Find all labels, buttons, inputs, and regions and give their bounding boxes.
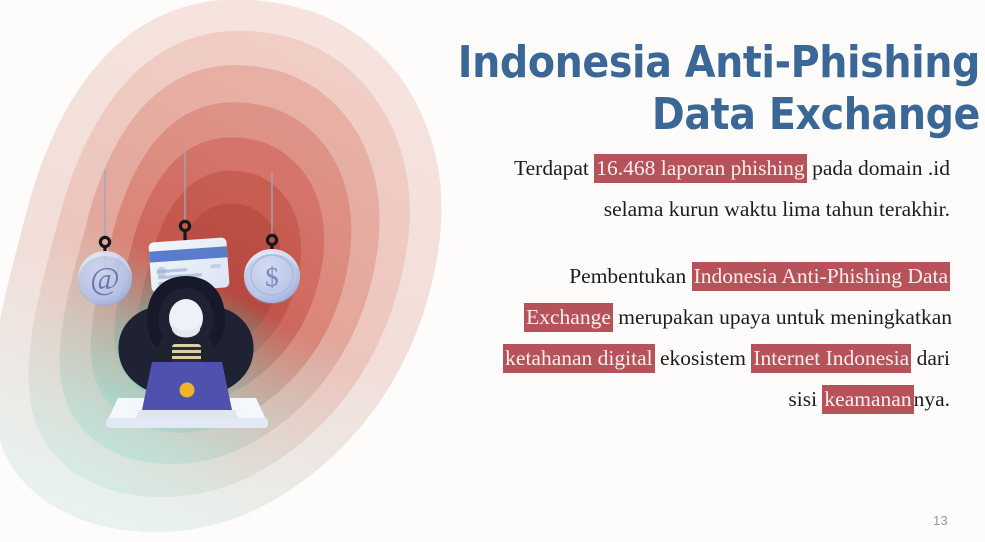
p1-highlight-report-count: 16.468 laporan phishing	[594, 154, 806, 183]
content-column: Indonesia Anti-Phishing Data Exchange Te…	[470, 0, 985, 542]
title-line-2: Data Exchange	[400, 89, 980, 140]
body-text: Terdapat 16.468 laporan phishing pada do…	[484, 148, 950, 420]
at-sign-coin-bait: @	[78, 251, 132, 306]
p2-seg5: ekosistem	[655, 346, 752, 370]
p2-seg3: merupakan upaya untuk meningkatkan	[613, 305, 952, 329]
p2-highlight-internet-indonesia: Internet Indonesia	[751, 344, 911, 373]
p2-seg1: Pembentukan	[569, 264, 691, 288]
paragraph-1: Terdapat 16.468 laporan phishing pada do…	[484, 148, 950, 230]
p2-seg9: nya.	[914, 387, 950, 411]
page-title: Indonesia Anti-Phishing Data Exchange	[400, 37, 980, 140]
page-number: 13	[933, 513, 948, 528]
title-line-1: Indonesia Anti-Phishing	[400, 37, 980, 88]
slide: @ $	[0, 0, 985, 542]
dollar-coin-bait: $	[244, 249, 300, 304]
p2-highlight-security: keamanan	[822, 385, 913, 414]
svg-text:$: $	[265, 262, 279, 292]
p2-highlight-digital-resilience: ketahanan digital	[503, 344, 654, 373]
p1-text-before: Terdapat	[514, 156, 594, 180]
svg-text:@: @	[90, 260, 119, 296]
laptop	[135, 362, 239, 419]
paragraph-2: Pembentukan Indonesia Anti-Phishing Data…	[484, 256, 950, 420]
